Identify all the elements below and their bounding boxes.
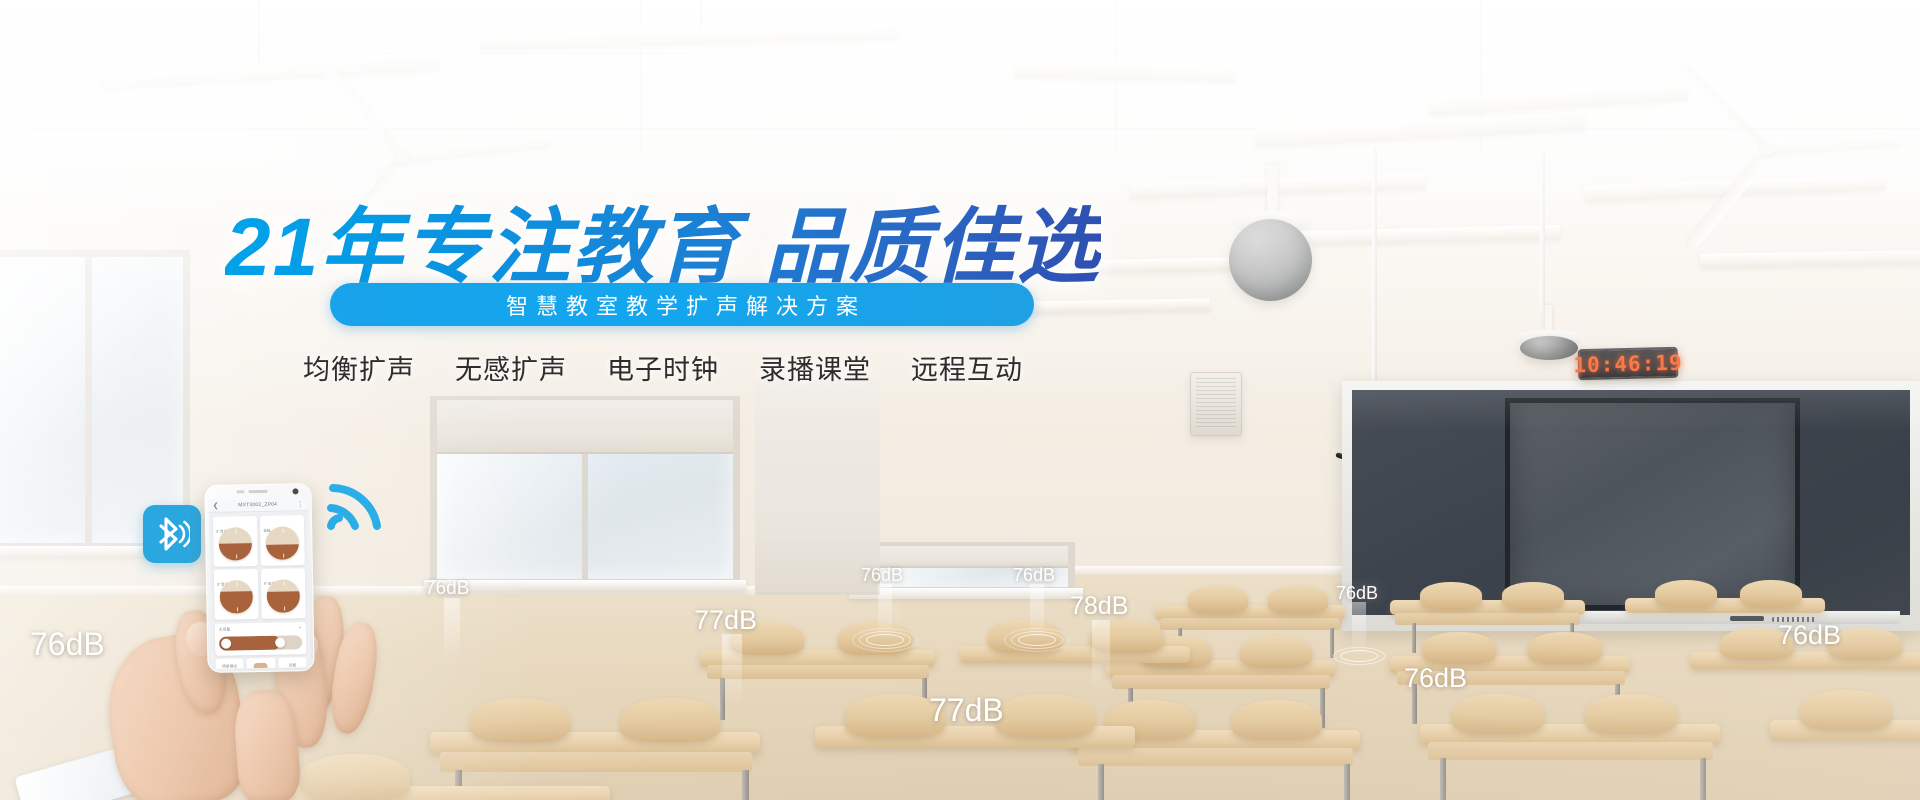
wifi-signal-icon [325, 468, 395, 532]
volume-knob[interactable] [267, 579, 301, 613]
db-label: 77dB [694, 605, 757, 636]
ceiling-speaker [1229, 219, 1312, 301]
bluetooth-badge [143, 505, 201, 563]
classroom-photo: 10:46:19 [0, 0, 1920, 800]
zone-card[interactable]: 扩音设备D [261, 568, 306, 619]
window-sill [849, 588, 1083, 599]
feature-item-2: 电子时钟 [607, 348, 719, 387]
zone-card[interactable]: 音箱 [260, 515, 305, 566]
wall-speaker [1190, 372, 1242, 436]
app-footer-buttons: 情景模式 设置 [211, 657, 310, 669]
feature-item-0: 均衡扩声 [303, 348, 415, 387]
db-label: 76dB [1013, 565, 1055, 586]
settings-button[interactable]: 设置 [278, 657, 307, 669]
subtitle-pill: 智慧教室教学扩声解决方案 [330, 283, 1034, 326]
app-title: MXT3002_ZP04 [219, 501, 297, 508]
db-label: 78dB [1070, 592, 1128, 621]
plus-icon[interactable]: + [298, 625, 302, 631]
db-label: 77dB [929, 692, 1004, 729]
db-label: 76dB [1404, 663, 1467, 694]
panel-control [1730, 616, 1764, 621]
zone-card[interactable]: 扩音设备C [214, 569, 259, 620]
feature-item-1: 无感扩声 [455, 348, 567, 387]
zone-card-grid: 扩音设备A 音箱 扩音设备C [209, 511, 310, 624]
front-camera-icon [292, 488, 298, 494]
power-button[interactable] [247, 658, 276, 669]
phone-screen: ❮ MXT3002_ZP04 ⋮ 扩音设备A 音箱 [209, 498, 311, 669]
master-volume-slider[interactable] [219, 635, 302, 650]
classroom-hero-banner: 10:46:19 [0, 0, 1920, 800]
screen-rod [1540, 150, 1545, 312]
subtitle-pill-label: 智慧教室教学扩声解决方案 [498, 289, 866, 321]
speaker-stem [1267, 165, 1278, 217]
ceiling-seam [640, 0, 642, 150]
feature-list: 均衡扩声 无感扩声 电子时钟 录播课堂 远程互动 [303, 348, 1023, 387]
smartphone: ❮ MXT3002_ZP04 ⋮ 扩音设备A 音箱 [204, 483, 314, 673]
scene-mode-button[interactable]: 情景模式 [215, 658, 244, 669]
ceiling-speaker [1520, 336, 1578, 360]
volume-knob[interactable] [266, 526, 300, 560]
db-label: 76dB [425, 578, 469, 600]
db-label: 76dB [1336, 583, 1378, 604]
more-vertical-icon[interactable]: ⋮ [297, 501, 304, 508]
master-volume-label: 主音量 [219, 627, 230, 632]
light-rod [258, 0, 260, 62]
db-label: 76dB [1778, 620, 1841, 651]
window-blind [437, 400, 733, 454]
master-volume-panel: 主音量 + [215, 622, 307, 656]
ceiling-seam [0, 52, 1920, 54]
zone-card[interactable]: 扩音设备A [213, 516, 258, 567]
window-mullion [85, 250, 92, 550]
volume-knob[interactable] [219, 527, 253, 561]
window-sill [424, 580, 746, 591]
interactive-display [1505, 398, 1800, 610]
page-title: 21年专注教育 品质佳选 [225, 180, 1101, 299]
earpiece-speaker-icon [248, 490, 267, 493]
wifi-waves [325, 468, 395, 532]
bluetooth-icon [154, 515, 190, 553]
volume-knob[interactable] [220, 580, 254, 614]
feature-item-3: 录播课堂 [759, 348, 871, 387]
roller-blind [755, 380, 880, 595]
digital-clock: 10:46:19 [1578, 347, 1679, 380]
proximity-sensor-icon [236, 490, 244, 493]
feature-item-4: 远程互动 [911, 348, 1023, 387]
db-label: 76dB [861, 565, 903, 586]
ceiling-seam [0, 128, 1920, 130]
clock-time: 10:46:19 [1573, 350, 1683, 377]
db-label: 76dB [30, 626, 105, 663]
